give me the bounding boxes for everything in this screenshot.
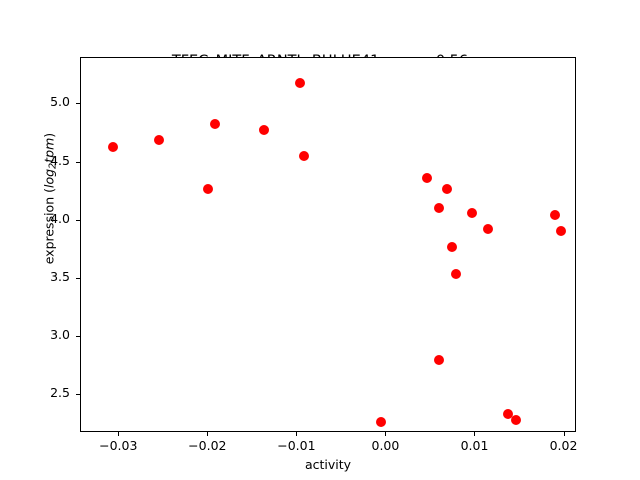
plot-area — [80, 57, 576, 432]
y-axis-tick — [76, 162, 80, 163]
scatter-point — [259, 125, 269, 135]
x-axis-tick-label: 0.02 — [524, 438, 604, 453]
scatter-point — [422, 173, 432, 183]
scatter-point — [154, 135, 164, 145]
x-axis-tick — [474, 432, 475, 436]
scatter-point — [295, 78, 305, 88]
x-axis-tick — [207, 432, 208, 436]
x-axis-tick-label: −0.01 — [256, 438, 336, 453]
y-axis-tick — [76, 278, 80, 279]
x-axis-tick-label: −0.02 — [167, 438, 247, 453]
x-axis-label: activity — [80, 457, 576, 472]
y-axis-tick — [76, 336, 80, 337]
scatter-point — [376, 417, 386, 427]
y-axis-label-suffix: ) — [41, 133, 56, 138]
scatter-point — [556, 226, 566, 236]
y-axis-label-subscript: 2 — [48, 163, 59, 169]
y-axis-label-log: log — [41, 169, 56, 188]
scatter-point — [447, 242, 457, 252]
y-axis-tick — [76, 103, 80, 104]
x-axis-tick — [564, 432, 565, 436]
scatter-plot-figure: TFEC_MITF_ARNTL_BHLHE41, ρ = − 0.56 hg19… — [0, 0, 640, 480]
scatter-point — [550, 210, 560, 220]
scatter-point — [299, 151, 309, 161]
scatter-points-layer — [81, 58, 575, 431]
scatter-point — [451, 269, 461, 279]
y-axis-tick-label: 3.0 — [14, 327, 70, 342]
scatter-point — [210, 119, 220, 129]
y-axis-label: expression (log2tpm) — [41, 69, 58, 329]
scatter-point — [442, 184, 452, 194]
scatter-point — [434, 203, 444, 213]
scatter-point — [203, 184, 213, 194]
scatter-point — [467, 208, 477, 218]
scatter-point — [511, 415, 521, 425]
y-axis-label-prefix: expression ( — [41, 188, 56, 264]
scatter-point — [434, 355, 444, 365]
x-axis-tick — [385, 432, 386, 436]
x-axis-tick-label: 0.00 — [345, 438, 425, 453]
x-axis-tick-label: −0.03 — [78, 438, 158, 453]
scatter-point — [108, 142, 118, 152]
x-axis-tick — [118, 432, 119, 436]
x-axis-tick-label: 0.01 — [434, 438, 514, 453]
x-axis-tick — [296, 432, 297, 436]
y-axis-tick — [76, 394, 80, 395]
y-axis-label-tpm: tpm — [41, 138, 56, 163]
y-axis-tick-label: 2.5 — [14, 385, 70, 400]
y-axis-tick — [76, 220, 80, 221]
scatter-point — [483, 224, 493, 234]
